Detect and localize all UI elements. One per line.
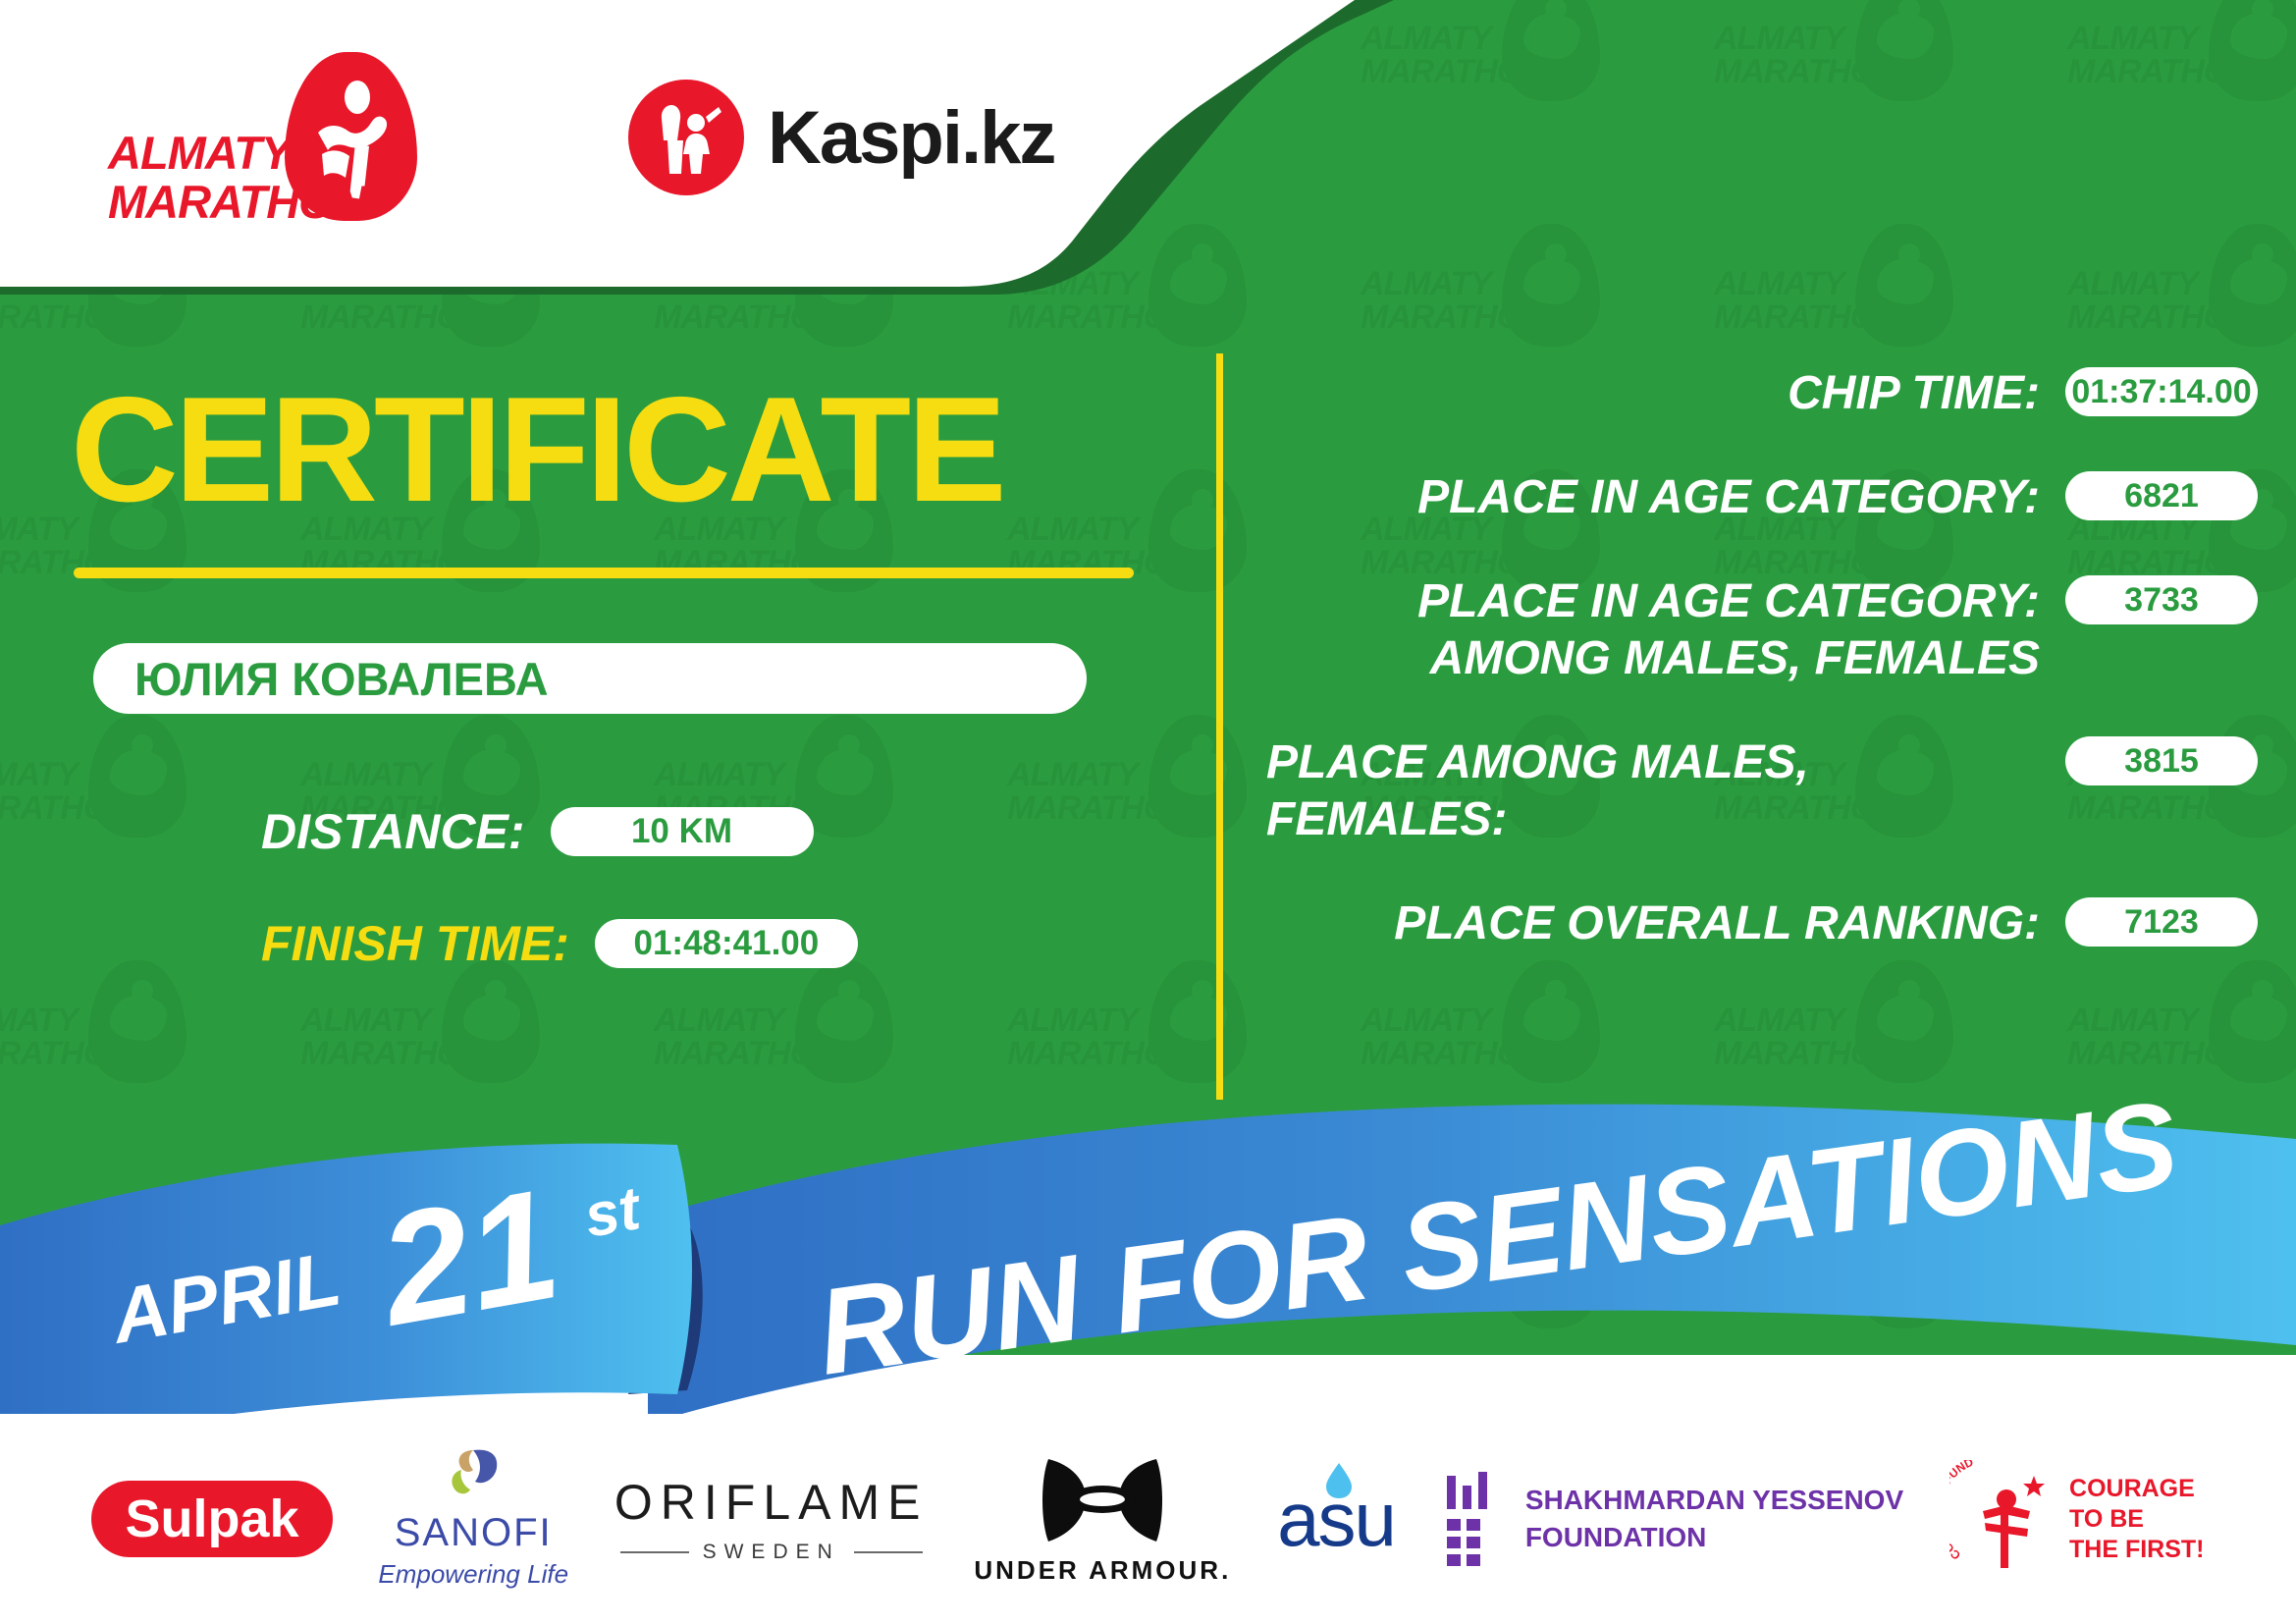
oriflame-wordmark: ORIFLAME: [614, 1474, 929, 1531]
watermark-text: ALMATYMARATHON: [1714, 1003, 1881, 1070]
sponsor-oriflame: ORIFLAME SWEDEN: [614, 1474, 929, 1564]
place-among-gender-value: 3815: [2065, 736, 2258, 785]
watermark-text: ALMATYMARATHON: [300, 1003, 467, 1070]
overall-ranking-value: 7123: [2065, 897, 2258, 947]
oriflame-rule-right: [854, 1551, 923, 1553]
courage-line-3: THE FIRST!: [2069, 1535, 2205, 1565]
watermark-text: ALMATYMARATHON: [2067, 22, 2234, 88]
sponsor-under-armour: UNDER ARMOUR.: [974, 1453, 1231, 1586]
place-age-category-value: 6821: [2065, 471, 2258, 520]
header-logos: ALMATY MARATHON Kaspi.kz: [0, 0, 1276, 275]
label-line-1: PLACE AMONG MALES,: [1266, 734, 1809, 791]
courage-wordmark: COURAGE TO BE THE FIRST!: [2069, 1474, 2205, 1565]
distance-row: DISTANCE: 10 KM: [261, 803, 814, 860]
watermark-text: ALMATYMARATHON: [2067, 267, 2234, 334]
sanofi-wordmark: SANOFI: [395, 1511, 553, 1555]
result-row-chip-time: CHIP TIME: 01:37:14.00: [1247, 363, 2258, 422]
almaty-marathon-logo: ALMATY MARATHON: [108, 44, 422, 231]
ribbon-graphic: APRIL 21 st RUN FOR SENSATIONS: [0, 1100, 2296, 1434]
event-ribbon: APRIL 21 st RUN FOR SENSATIONS: [0, 1100, 2296, 1434]
watermark-text: ALMATYMARATHON: [654, 1003, 821, 1070]
under-armour-wordmark: UNDER ARMOUR.: [974, 1555, 1231, 1586]
sponsor-sulpak: Sulpak: [91, 1481, 332, 1557]
finish-time-value: 01:48:41.00: [595, 919, 858, 968]
watermark-text: ALMATYMARATHON: [0, 758, 114, 825]
courage-line-1: COURAGE: [2069, 1474, 2205, 1504]
watermark-text: ALMATYMARATHON: [1007, 758, 1174, 825]
logo-line-almaty: ALMATY: [108, 129, 353, 178]
finish-time-row: FINISH TIME: 01:48:41.00: [261, 915, 858, 972]
place-age-category-gender-label: PLACE IN AGE CATEGORY: AMONG MALES, FEMA…: [1417, 571, 2040, 687]
distance-label: DISTANCE:: [261, 803, 525, 860]
label-line-1: PLACE IN AGE CATEGORY:: [1417, 573, 2040, 630]
watermark-text: ALMATYMARATHON: [1361, 1003, 1527, 1070]
participant-name-field: ЮЛИЯ КОВАЛЕВА: [93, 643, 1087, 714]
place-age-category-label: PLACE IN AGE CATEGORY:: [1417, 467, 2040, 526]
overall-ranking-label: PLACE OVERALL RANKING:: [1394, 893, 2040, 952]
oriflame-rule-left: [620, 1551, 689, 1553]
label-line-2: FEMALES:: [1266, 791, 1809, 848]
chip-time-label: CHIP TIME:: [1788, 363, 2040, 422]
column-divider: [1216, 353, 1223, 1100]
result-row-place-among-gender: PLACE AMONG MALES, FEMALES: 3815: [1247, 732, 2258, 848]
sponsor-asu: asu: [1277, 1475, 1395, 1564]
yessenov-line-1: SHAKHMARDAN YESSENOV: [1525, 1482, 1903, 1519]
distance-value: 10 KM: [551, 807, 814, 856]
result-row-overall-ranking: PLACE OVERALL RANKING: 7123: [1247, 893, 2258, 952]
watermark-tile: ALMATYMARATHON: [0, 697, 294, 943]
result-row-place-age-category: PLACE IN AGE CATEGORY: 6821: [1247, 467, 2258, 526]
watermark-text: ALMATYMARATHON: [1714, 22, 1881, 88]
asu-logo: asu: [1277, 1475, 1395, 1564]
yessenov-line-2: FOUNDATION: [1525, 1519, 1903, 1556]
under-armour-logo: [1039, 1453, 1166, 1547]
sponsor-courage-fund: CORPORATE FUND COURAGE TO BE THE FIRST!: [1949, 1460, 2205, 1578]
watermark-text: ALMATYMARATHON: [2067, 1003, 2234, 1070]
watermark-tile: ALMATYMARATHON: [1355, 0, 1708, 206]
participant-name: ЮЛИЯ КОВАЛЕВА: [134, 652, 549, 706]
watermark-text: ALMATYMARATHON: [1714, 267, 1881, 334]
page-title: CERTIFICATE: [71, 375, 1003, 524]
courage-to-be-first-logo: CORPORATE FUND: [1949, 1460, 2059, 1578]
asu-droplet-icon: [1322, 1461, 1356, 1500]
oriflame-sweden-text: SWEDEN: [703, 1541, 840, 1564]
courage-fund-arc-text: CORPORATE FUND: [1949, 1460, 1976, 1562]
sponsor-bar: Sulpak SANOFI Empowering Life ORIFLAME S…: [0, 1414, 2296, 1624]
kaspi-figures-icon: [628, 80, 744, 195]
sponsor-sanofi: SANOFI Empowering Life: [378, 1448, 568, 1590]
sanofi-tagline: Empowering Life: [378, 1559, 568, 1590]
results-list: CHIP TIME: 01:37:14.00 PLACE IN AGE CATE…: [1247, 363, 2258, 998]
kaspi-logo: Kaspi.kz: [628, 80, 1054, 195]
watermark-text: ALMATYMARATHON: [0, 1003, 114, 1070]
title-underline: [74, 568, 1134, 578]
yessenov-wordmark: SHAKHMARDAN YESSENOV FOUNDATION: [1525, 1482, 1903, 1556]
sulpak-logo: Sulpak: [91, 1481, 332, 1557]
almaty-marathon-wordmark: ALMATY MARATHON: [108, 129, 353, 227]
result-row-place-age-category-gender: PLACE IN AGE CATEGORY: AMONG MALES, FEMA…: [1247, 571, 2258, 687]
finish-time-label: FINISH TIME:: [261, 915, 569, 972]
courage-line-2: TO BE: [2069, 1504, 2205, 1535]
yessenov-foundation-logo: [1441, 1472, 1504, 1566]
watermark-tile: ALMATYMARATHON: [2061, 0, 2296, 206]
ribbon-day: 21: [365, 1155, 570, 1359]
chip-time-value: 01:37:14.00: [2065, 367, 2258, 416]
sanofi-logo: [438, 1448, 508, 1507]
logo-line-marathon: MARATHON: [108, 178, 353, 227]
certificate-page: ALMATYMARATHONALMATYMARATHONALMATYMARATH…: [0, 0, 2296, 1624]
sponsor-yessenov-foundation: SHAKHMARDAN YESSENOV FOUNDATION: [1441, 1472, 1903, 1566]
kaspi-wordmark: Kaspi.kz: [768, 95, 1054, 181]
kaspi-people-icon: [628, 80, 744, 195]
oriflame-subline: SWEDEN: [620, 1541, 923, 1564]
watermark-text: ALMATYMARATHON: [1007, 1003, 1174, 1070]
place-age-category-gender-value: 3733: [2065, 575, 2258, 624]
watermark-tile: ALMATYMARATHON: [1708, 0, 2061, 206]
place-among-gender-label: PLACE AMONG MALES, FEMALES:: [1266, 732, 1809, 848]
label-line-2: AMONG MALES, FEMALES: [1417, 630, 2040, 687]
